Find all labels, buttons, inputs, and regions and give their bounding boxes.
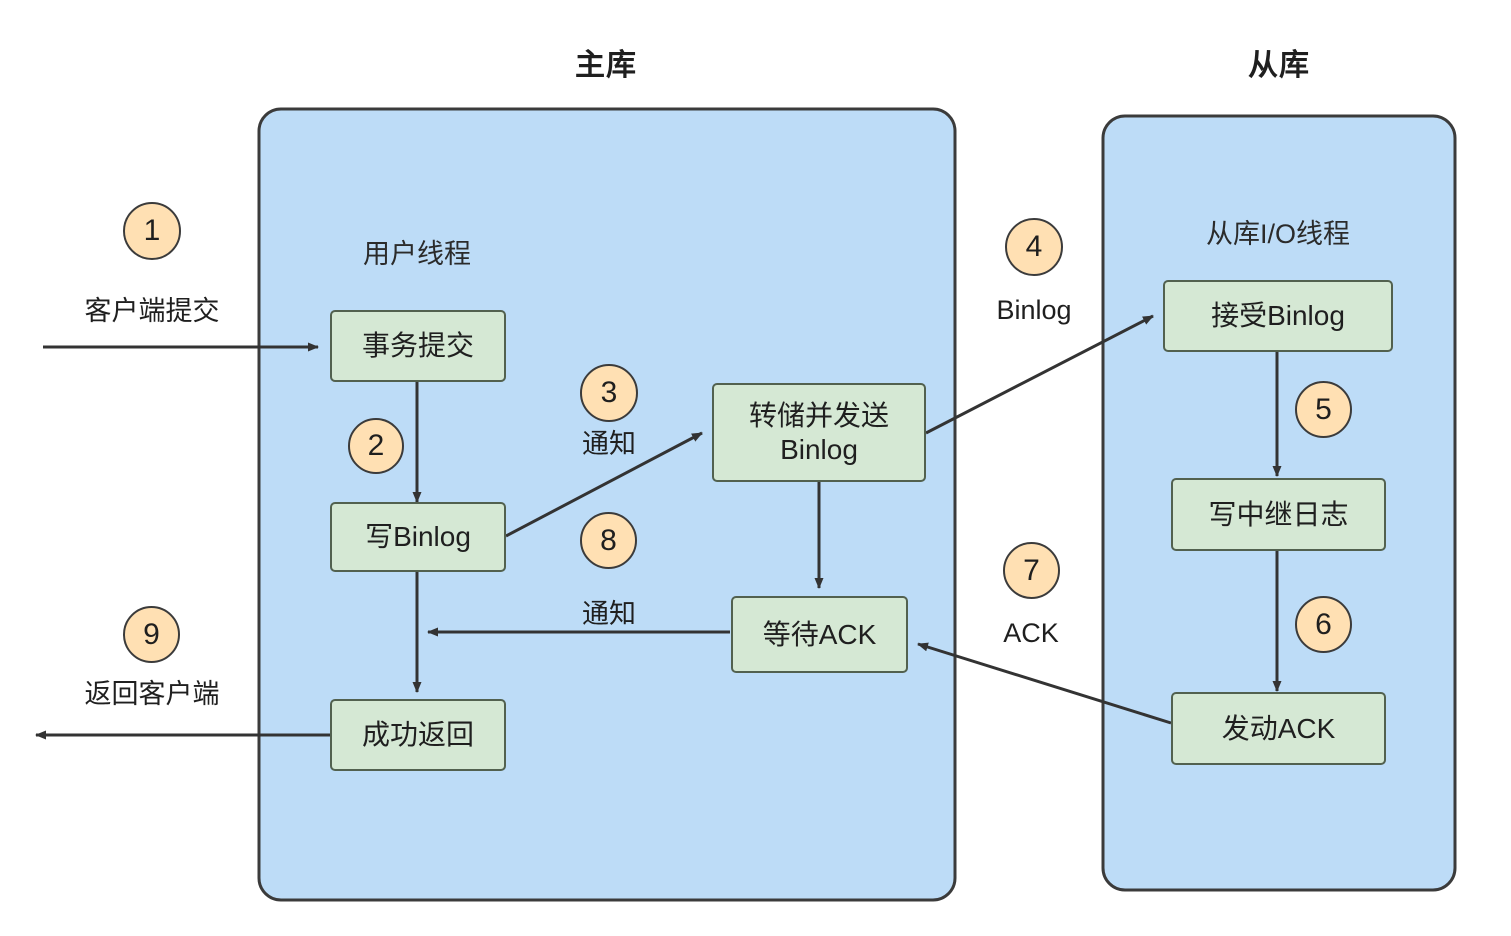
node-wait-ack[interactable]: 等待ACK (731, 596, 908, 673)
step-circle-1: 1 (123, 202, 181, 260)
step-circle-4: 4 (1005, 218, 1063, 276)
step-circle-8: 8 (580, 512, 637, 569)
edge-label-step-7: ACK (981, 618, 1081, 649)
node-success-return[interactable]: 成功返回 (330, 699, 506, 771)
slave-io-thread-label: 从库I/O线程 (1163, 212, 1393, 251)
step-circle-5: 5 (1295, 381, 1352, 438)
step-circle-7: 7 (1003, 542, 1060, 599)
node-dump-send-binlog[interactable]: 转储并发送 Binlog (712, 383, 926, 482)
node-recv-binlog[interactable]: 接受Binlog (1163, 280, 1393, 352)
slave-region-title: 从库 (1204, 40, 1354, 84)
edge-label-step-1: 客户端提交 (52, 289, 252, 328)
user-thread-label: 用户线程 (332, 232, 502, 271)
node-tx-commit[interactable]: 事务提交 (330, 310, 506, 382)
node-write-relay-log[interactable]: 写中继日志 (1171, 478, 1386, 551)
edge-label-step-4: Binlog (967, 295, 1101, 326)
step-circle-6: 6 (1295, 596, 1352, 653)
edge-label-step-9: 返回客户端 (52, 672, 252, 711)
step-circle-9: 9 (123, 606, 180, 663)
node-send-ack[interactable]: 发动ACK (1171, 692, 1386, 765)
node-write-binlog[interactable]: 写Binlog (330, 502, 506, 572)
master-region-title: 主库 (531, 40, 681, 84)
edge-label-step-8: 通知 (549, 592, 669, 631)
step-circle-3: 3 (580, 364, 638, 422)
diagram-canvas: 主库 从库 用户线程 从库I/O线程 事务提交 写Binlog 成功返回 转储并… (0, 0, 1511, 936)
step-circle-2: 2 (348, 418, 404, 474)
edge-label-step-3: 通知 (549, 422, 669, 461)
